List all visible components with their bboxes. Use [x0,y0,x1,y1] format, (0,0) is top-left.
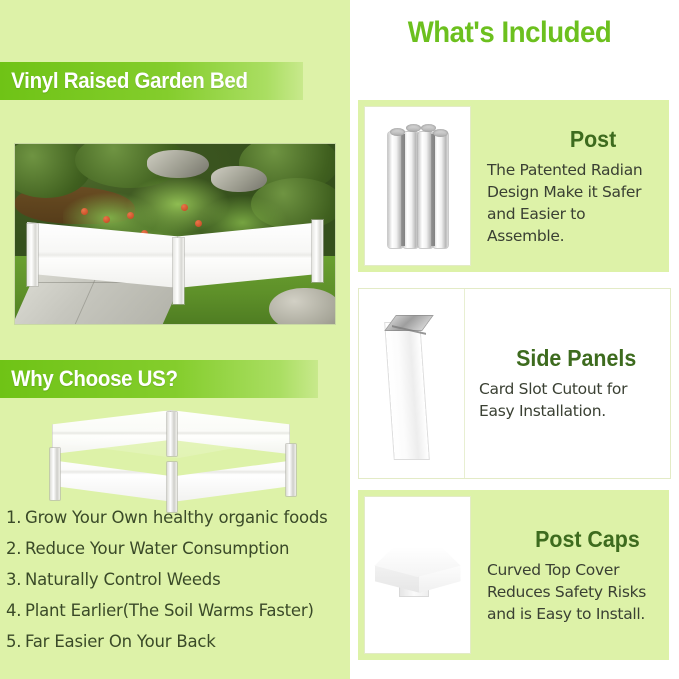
post-tube [433,132,448,248]
post-title: Post [487,126,651,153]
panel-face [385,323,429,459]
photo-bed-post [173,238,184,304]
benefit-label: Reduce Your Water Consumption [25,539,289,558]
benefit-item: 1. Grow Your Own healthy organic foods [6,508,350,539]
included-card-post-caps: Post Caps Curved Top Cover Reduces Safet… [358,490,669,660]
right-panel: What's Included Post The [350,0,679,679]
left-panel: Vinyl Raised Garden Bed [0,0,350,679]
side-panel-image [359,289,465,478]
bed-corner-post [167,462,177,512]
post-caps-description: Curved Top Cover Reduces Safety Risks an… [487,559,663,625]
benefit-label: Far Easier On Your Back [25,632,216,651]
benefit-label: Plant Earlier(The Soil Warms Faster) [25,601,314,620]
why-choose-text: Why Choose US? [0,366,178,392]
post-description: The Patented Radian Design Make it Safer… [487,159,663,247]
product-title-banner: Vinyl Raised Garden Bed [0,62,303,100]
bed-corner-post [167,412,177,456]
whats-included-heading: What's Included [363,16,656,50]
photo-bed-post [27,224,38,286]
post-text-block: Post The Patented Radian Design Make it … [477,100,669,272]
raised-bed-illustration [36,406,312,512]
photo-bed-post [312,220,323,282]
benefit-item: 5. Far Easier On Your Back [6,632,350,663]
benefits-list: 1. Grow Your Own healthy organic foods 2… [6,508,350,663]
benefit-number: 2. [6,539,25,558]
product-infographic: Vinyl Raised Garden Bed [0,0,679,679]
post-cap-text-block: Post Caps Curved Top Cover Reduces Safet… [477,490,669,660]
why-choose-banner: Why Choose US? [0,360,318,398]
post-cluster-icon [388,122,448,250]
post-groove [401,134,405,246]
benefit-number: 1. [6,508,25,527]
benefit-label: Naturally Control Weeds [25,570,220,589]
bed-corner-post [286,444,296,496]
photo-bed-left-panel [27,222,179,288]
post-cap-image [364,496,471,654]
benefit-label: Grow Your Own healthy organic foods [25,508,328,527]
post-tube-opening [390,128,405,136]
post-caps-title: Post Caps [487,526,651,553]
post-tube-opening [433,129,448,137]
post-image [364,106,471,266]
benefit-item: 3. Naturally Control Weeds [6,570,350,601]
benefit-item: 2. Reduce Your Water Consumption [6,539,350,570]
bed-corner-post [50,448,60,500]
benefit-item: 4. Plant Earlier(The Soil Warms Faster) [6,601,350,632]
post-tube-opening [406,124,421,132]
side-panel-text-block: Side Panels Card Slot Cutout for Easy In… [465,289,670,478]
photo-garden-bed [27,204,323,314]
hero-product-photo [14,143,336,325]
side-panel-icon [384,309,440,459]
photo-bed-right-panel [177,222,323,288]
included-card-side-panels: Side Panels Card Slot Cutout for Easy In… [358,288,671,479]
benefit-number: 5. [6,632,25,651]
side-panels-title: Side Panels [479,345,651,372]
post-cap-icon [373,545,463,605]
side-panels-description: Card Slot Cutout for Easy Installation. [479,378,664,422]
product-title-text: Vinyl Raised Garden Bed [0,68,248,94]
benefit-number: 3. [6,570,25,589]
post-groove [431,134,435,246]
included-card-post: Post The Patented Radian Design Make it … [358,100,669,272]
benefit-number: 4. [6,601,25,620]
post-tube [403,132,418,248]
